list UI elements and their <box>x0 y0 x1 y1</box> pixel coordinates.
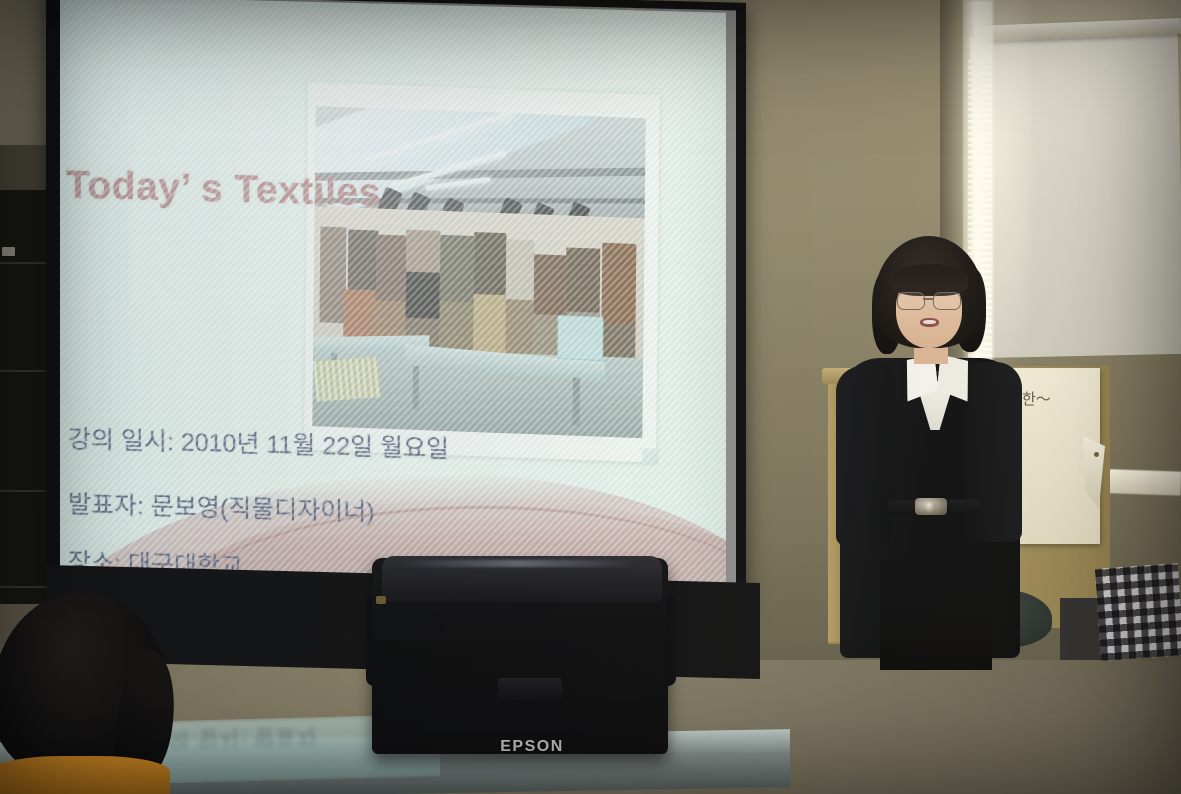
presenter-buckle-center <box>925 502 936 512</box>
flipchart-peg <box>1094 452 1099 457</box>
photo-fabric-swatch <box>440 235 475 310</box>
photo-fabric-swatch <box>319 226 346 323</box>
cabinet-top <box>0 145 46 191</box>
checkered-chair[interactable] <box>1095 563 1181 661</box>
slide-title: Today’ s Textiles <box>66 163 381 215</box>
slide-photo-card <box>304 82 660 463</box>
cabinet-latch <box>2 247 15 256</box>
presenter-teeth <box>923 320 936 324</box>
flipchart-note: 한〜 <box>1022 388 1084 410</box>
projector-bag-pocket <box>498 678 562 700</box>
glasses-bridge <box>923 298 933 300</box>
glasses-lens-right <box>933 292 961 310</box>
slide-photo <box>312 106 645 438</box>
photo-table-leg <box>413 366 419 410</box>
presenter-glasses <box>897 292 961 309</box>
projector-bag-flap-highlight <box>398 560 638 567</box>
photo-fabric-swatch <box>376 234 407 309</box>
projector-bag-clip <box>376 596 386 604</box>
presenter-arm-right <box>964 362 1022 542</box>
presenter-arm-left <box>836 366 892 546</box>
slide-line-presenter: 발표자: 문보영(직물디자이너) <box>68 484 375 528</box>
audience-shoulder <box>0 756 170 794</box>
glasses-lens-left <box>897 292 925 310</box>
epson-logo: EPSON <box>462 738 602 756</box>
photo-storage-bin <box>557 315 603 361</box>
photo-fabric-swatch <box>601 243 636 330</box>
photo-folded-fabric <box>313 357 380 401</box>
presenter-legs <box>880 560 992 670</box>
lecture-room-photo: Today’ s Textiles 강의 일시: 2010년 11월 22일 월… <box>0 0 1181 794</box>
photo-table-leg <box>572 378 580 426</box>
projected-slide: Today’ s Textiles 강의 일시: 2010년 11월 22일 월… <box>60 0 726 599</box>
